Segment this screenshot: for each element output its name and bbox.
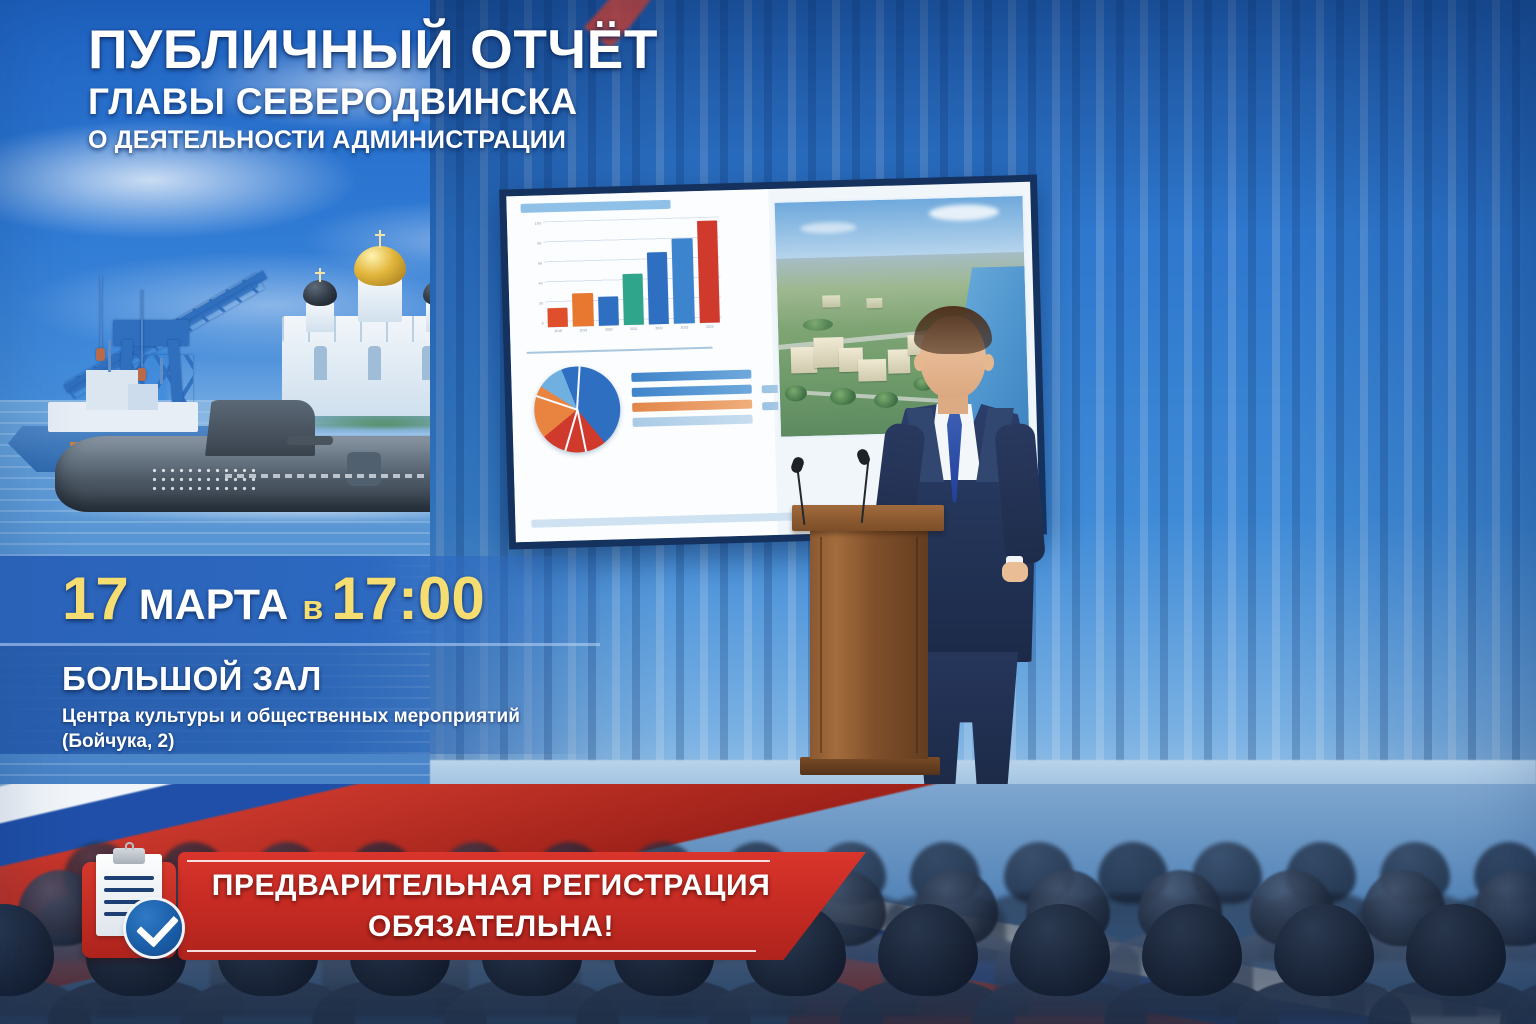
chart-legend <box>631 370 753 433</box>
bar-chart-x-label: 2020 <box>599 327 620 340</box>
venue-name: БОЛЬШОЙ ЗАЛ <box>62 660 600 698</box>
y-tick: 20 <box>539 301 543 305</box>
bar-chart: 100 80 60 40 20 0 2018201920202021202220… <box>529 216 722 341</box>
podium-body <box>810 531 928 759</box>
event-time: 17:00 <box>331 564 484 633</box>
event-preposition: в <box>302 589 323 628</box>
y-tick: 0 <box>542 321 544 325</box>
legend-row <box>631 370 751 382</box>
photo-building <box>822 295 840 307</box>
legend-row <box>632 385 752 397</box>
event-month: МАРТА <box>139 581 289 630</box>
photo-tree <box>785 385 807 402</box>
y-tick: 100 <box>535 221 541 225</box>
registration-line2: ОБЯЗАТЕЛЬНА! <box>178 910 804 944</box>
speaker-hair <box>914 306 992 354</box>
registration-line1: ПРЕДВАРИТЕЛЬНАЯ РЕГИСТРАЦИЯ <box>178 869 804 903</box>
page-title: ПУБЛИЧНЫЙ ОТЧЁТ <box>88 22 728 77</box>
check-badge-icon <box>126 900 182 956</box>
slide-title-bar <box>520 200 670 213</box>
speaker-ear <box>983 354 994 371</box>
bar-chart-bar <box>622 274 644 325</box>
bar-chart-x-label: 2023 <box>674 325 695 338</box>
registration-notice: ПРЕДВАРИТЕЛЬНАЯ РЕГИСТРАЦИЯ ОБЯЗАТЕЛЬНА! <box>66 852 866 964</box>
y-tick: 40 <box>538 281 542 285</box>
event-venue: БОЛЬШОЙ ЗАЛ Центра культуры и общественн… <box>0 646 600 754</box>
bar-chart-x-axis: 2018201920202021202220232024 <box>548 324 720 341</box>
page-subtitle-secondary: О ДЕЯТЕЛЬНОСТИ АДМИНИСТРАЦИИ <box>88 128 728 153</box>
clipboard-text-line <box>104 876 154 880</box>
bar-chart-bar <box>672 238 695 323</box>
page-subtitle: ГЛАВЫ СЕВЕРОДВИНСКА <box>88 83 728 120</box>
event-datetime: 17 МАРТА в 17:00 <box>0 556 600 646</box>
event-details-block: 17 МАРТА в 17:00 БОЛЬШОЙ ЗАЛ Центра куль… <box>0 556 600 754</box>
bar-chart-bar <box>647 252 669 325</box>
bar-chart-x-label: 2021 <box>624 327 645 340</box>
clipboard-check-icon <box>66 848 192 968</box>
checkmark-icon <box>136 904 179 947</box>
speaker-hand <box>1002 562 1028 582</box>
bar-chart-bar <box>697 221 720 323</box>
speaker-ear <box>914 354 925 371</box>
event-day: 17 <box>62 564 129 633</box>
bar-chart-x-label: 2019 <box>573 328 594 341</box>
venue-subtitle-line1: Центра культуры и общественных мероприят… <box>62 704 600 729</box>
wooden-podium <box>800 505 936 787</box>
bar-chart-x-label: 2018 <box>548 329 569 342</box>
legend-row <box>633 415 753 427</box>
clipboard-text-line <box>104 888 154 892</box>
bar-chart-bar <box>547 308 568 328</box>
bar-chart-bar <box>598 297 619 326</box>
bar-chart-x-label: 2022 <box>649 326 670 339</box>
podium-base <box>800 757 940 775</box>
poster-title-block: ПУБЛИЧНЫЙ ОТЧЁТ ГЛАВЫ СЕВЕРОДВИНСКА О ДЕ… <box>88 22 728 153</box>
bar-chart-bar <box>572 293 593 326</box>
slide-charts-panel: 100 80 60 40 20 0 2018201920202021202220… <box>506 189 778 542</box>
slide-divider <box>527 347 713 354</box>
pie-chart <box>533 365 621 453</box>
podium-top <box>792 505 944 531</box>
bar-chart-x-label: 2024 <box>700 324 721 337</box>
y-tick: 60 <box>538 261 542 265</box>
bar-chart-bars <box>545 217 720 328</box>
registration-banner: ПРЕДВАРИТЕЛЬНАЯ РЕГИСТРАЦИЯ ОБЯЗАТЕЛЬНА! <box>178 852 866 960</box>
venue-address: (Бойчука, 2) <box>62 729 600 754</box>
y-tick: 80 <box>537 241 541 245</box>
poster-canvas: 100 80 60 40 20 0 2018201920202021202220… <box>0 0 1536 1024</box>
legend-row <box>632 400 752 412</box>
clipboard-clip <box>113 848 145 864</box>
